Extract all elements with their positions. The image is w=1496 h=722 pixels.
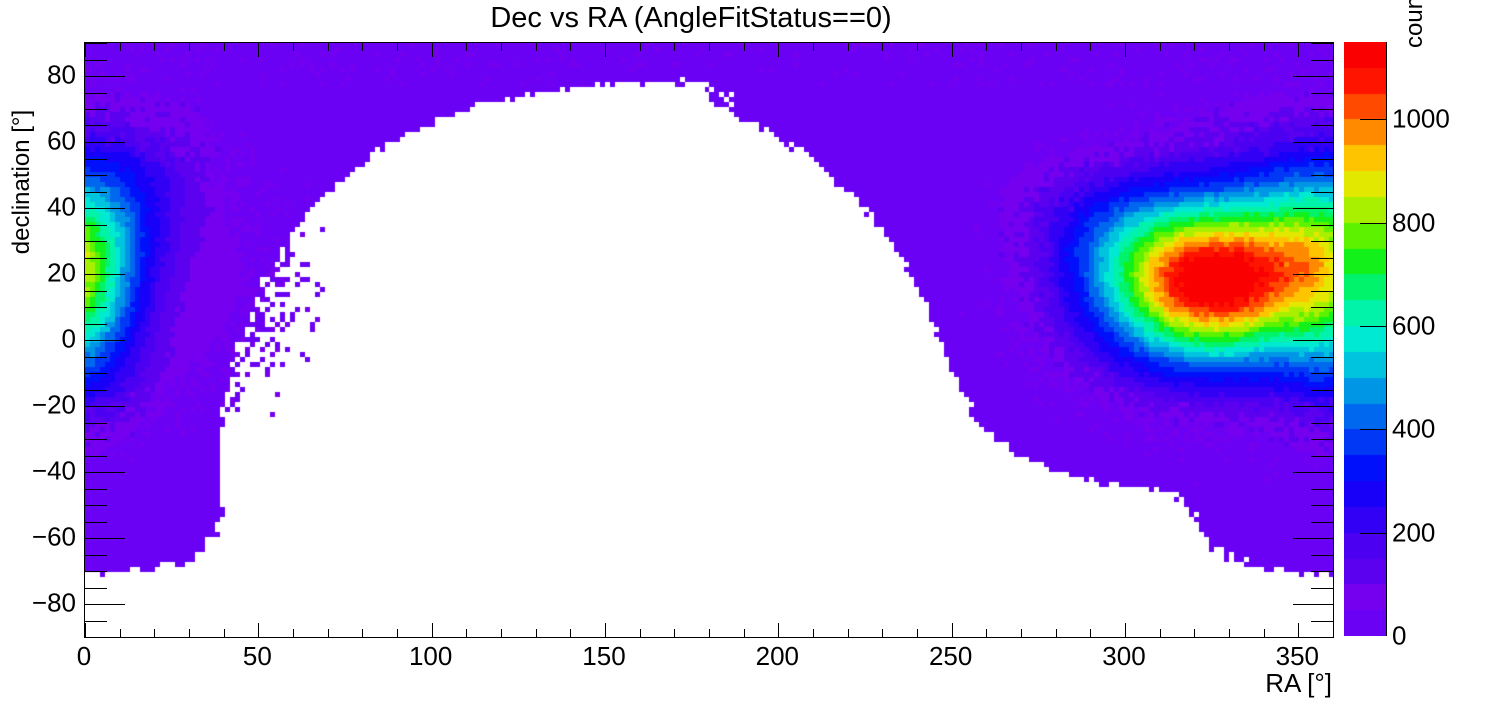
x-tick-top [674,43,675,51]
x-tick [1229,629,1230,637]
x-tick [536,629,537,637]
y-tick-right [1311,357,1333,358]
y-tick [85,357,107,358]
y-tick [85,291,107,292]
y-tick [85,159,107,160]
y-tick [85,125,107,126]
y-tick [85,456,107,457]
x-tick-top [640,43,641,51]
x-tick-top [986,43,987,51]
x-tick-top [813,43,814,51]
colorbar-tick-label: 200 [1392,518,1435,549]
colorbar [1344,42,1386,636]
y-tick [85,241,107,242]
y-tick-right [1311,621,1333,622]
x-tick-top [120,43,121,51]
x-tick-top [1333,43,1334,51]
x-tick [917,629,918,637]
y-axis-title: declination [°] [8,102,36,262]
y-tick [85,373,107,374]
y-tick-right [1311,522,1333,523]
y-tick [85,505,107,506]
x-tick-top [258,43,259,57]
x-tick [1333,629,1334,637]
x-tick-label: 0 [77,641,91,672]
y-tick-label: −20 [32,390,76,421]
y-tick-right [1311,192,1333,193]
y-tick-right [1311,390,1333,391]
x-tick-label: 150 [582,641,625,672]
x-tick [709,629,710,637]
x-tick [328,629,329,637]
x-tick [120,629,121,637]
y-tick [85,472,125,473]
x-tick [674,629,675,637]
x-tick-label: 100 [409,641,452,672]
y-tick [85,439,107,440]
y-tick-right [1311,571,1333,572]
colorbar-tick [1360,119,1386,120]
colorbar-tick [1360,223,1386,224]
y-tick-label: −60 [32,522,76,553]
x-tick-top [536,43,537,51]
x-tick-top [466,43,467,51]
y-tick-right [1311,175,1333,176]
y-tick [85,142,125,143]
y-tick-right [1311,159,1333,160]
colorbar-tick-label: 1000 [1392,104,1450,135]
x-tick-top [1160,43,1161,51]
x-tick [952,623,953,637]
y-tick-right [1311,291,1333,292]
y-tick-right [1311,125,1333,126]
plot-root: Dec vs RA (AngleFitStatus==0) 0501001502… [0,0,1496,722]
y-tick [85,258,107,259]
colorbar-tick [1360,533,1386,534]
y-tick [85,604,125,605]
y-tick [85,555,107,556]
y-tick [85,324,107,325]
x-tick [154,629,155,637]
x-tick [432,623,433,637]
y-tick-right [1311,324,1333,325]
x-tick [1160,629,1161,637]
y-tick-right [1311,60,1333,61]
x-tick-top [189,43,190,51]
x-tick [189,629,190,637]
x-tick [85,623,86,637]
colorbar-title: count [1401,0,1429,48]
y-tick-right [1293,142,1333,143]
x-tick [466,629,467,637]
y-tick [85,588,107,589]
x-tick-label: 250 [929,641,972,672]
y-tick-right [1311,637,1333,638]
y-tick-right [1311,241,1333,242]
x-tick-label: 200 [756,641,799,672]
y-tick-right [1311,505,1333,506]
y-tick-right [1293,340,1333,341]
y-tick-right [1311,423,1333,424]
y-tick-right [1311,109,1333,110]
plot-frame [84,42,1334,638]
y-tick-right [1311,43,1333,44]
x-tick-top [709,43,710,51]
x-tick [1056,629,1057,637]
y-tick [85,76,125,77]
y-tick-label: −40 [32,456,76,487]
x-tick-top [1056,43,1057,51]
y-tick [85,538,125,539]
x-tick [258,623,259,637]
y-tick-right [1311,307,1333,308]
y-tick-right [1311,93,1333,94]
y-tick-right [1311,373,1333,374]
x-tick-top [882,43,883,51]
y-tick-right [1311,456,1333,457]
x-tick-top [293,43,294,51]
x-tick-top [362,43,363,51]
x-tick-top [778,43,779,57]
y-tick-label: 0 [62,324,76,355]
x-tick-top [1090,43,1091,51]
y-tick-right [1293,208,1333,209]
y-tick-right [1293,472,1333,473]
x-tick [362,629,363,637]
x-tick-top [154,43,155,51]
x-tick [1264,629,1265,637]
x-tick [882,629,883,637]
colorbar-tick [1360,429,1386,430]
x-tick-label: 50 [243,641,272,672]
x-tick-top [848,43,849,51]
y-tick-right [1311,258,1333,259]
y-tick [85,208,125,209]
y-tick [85,489,107,490]
y-tick [85,307,107,308]
colorbar-tick-label: 0 [1392,621,1406,652]
y-tick-right [1293,274,1333,275]
colorbar-tick-label: 800 [1392,208,1435,239]
y-tick-label: 60 [47,126,76,157]
x-tick-top [1229,43,1230,51]
y-tick [85,423,107,424]
x-tick [1298,623,1299,637]
colorbar-tick-label: 400 [1392,414,1435,445]
y-tick-right [1293,406,1333,407]
x-tick [1090,629,1091,637]
x-tick-top [1264,43,1265,51]
x-tick-top [917,43,918,51]
y-tick-right [1293,604,1333,605]
x-tick-top [501,43,502,51]
x-tick [1194,629,1195,637]
x-tick [293,629,294,637]
x-tick [1021,629,1022,637]
y-tick-label: −80 [32,588,76,619]
x-tick [813,629,814,637]
y-tick-label: 40 [47,192,76,223]
x-tick-top [397,43,398,51]
y-tick-right [1311,439,1333,440]
y-tick-right [1311,225,1333,226]
x-tick [501,629,502,637]
x-tick [848,629,849,637]
y-tick [85,571,107,572]
x-tick-top [328,43,329,51]
y-tick [85,225,107,226]
x-axis-title: RA [°] [1265,668,1332,699]
y-tick-right [1311,489,1333,490]
y-tick [85,340,125,341]
x-tick-top [1298,43,1299,57]
x-tick-top [1125,43,1126,57]
x-tick-top [1194,43,1195,51]
y-tick [85,406,125,407]
y-tick-label: 20 [47,258,76,289]
x-tick [605,623,606,637]
heatmap-canvas [85,43,1333,637]
y-tick [85,175,107,176]
colorbar-tick-label: 600 [1392,311,1435,342]
colorbar-gradient [1344,42,1387,636]
x-tick-top [224,43,225,51]
x-tick-top [952,43,953,57]
page-title: Dec vs RA (AngleFitStatus==0) [0,2,1382,35]
y-tick [85,274,125,275]
x-tick [570,629,571,637]
y-tick [85,109,107,110]
x-tick-top [570,43,571,51]
x-tick-top [744,43,745,51]
y-tick-right [1311,555,1333,556]
y-tick [85,621,107,622]
y-tick [85,93,107,94]
x-tick-label: 300 [1102,641,1145,672]
x-tick [1125,623,1126,637]
y-tick-right [1293,538,1333,539]
x-tick-top [605,43,606,57]
y-tick [85,192,107,193]
x-tick [397,629,398,637]
x-tick-top [432,43,433,57]
colorbar-tick [1360,326,1386,327]
y-tick-right [1293,76,1333,77]
y-tick [85,43,107,44]
x-tick-top [1021,43,1022,51]
x-tick [744,629,745,637]
y-tick-label: 80 [47,60,76,91]
y-tick-right [1311,588,1333,589]
x-tick [640,629,641,637]
x-tick-top [85,43,86,57]
y-tick [85,60,107,61]
x-tick [224,629,225,637]
x-tick [986,629,987,637]
x-tick [778,623,779,637]
y-tick [85,637,107,638]
y-tick [85,390,107,391]
y-tick [85,522,107,523]
